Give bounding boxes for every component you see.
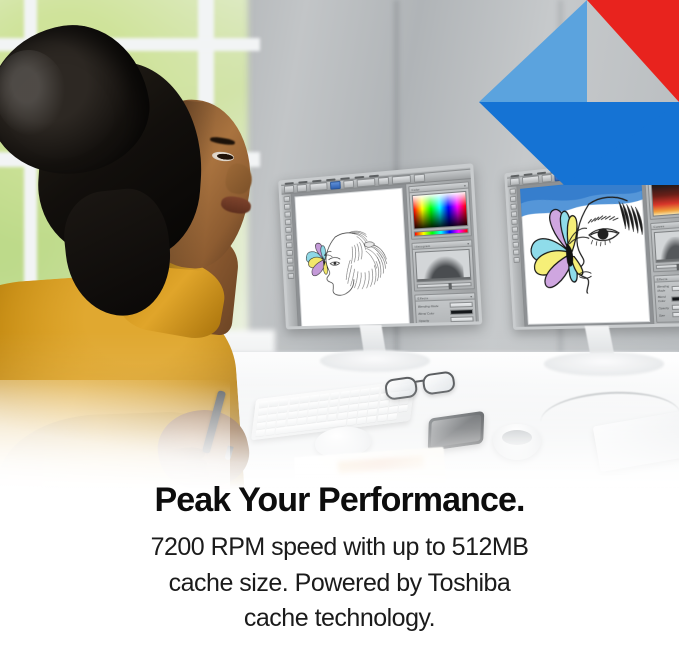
artwork-canvas[interactable] bbox=[520, 177, 650, 325]
panel-collapse-icon[interactable]: ▾ bbox=[467, 240, 469, 246]
histogram-graph bbox=[415, 249, 471, 282]
property-field[interactable] bbox=[450, 302, 473, 308]
subcopy-line-3: cache technology. bbox=[36, 601, 643, 637]
property-label: Size bbox=[659, 313, 671, 317]
property-field[interactable] bbox=[672, 311, 679, 317]
panel-collapse-icon[interactable]: ▾ bbox=[464, 182, 466, 188]
property-row[interactable]: Blending Mode bbox=[418, 302, 473, 309]
property-color-swatch[interactable] bbox=[450, 309, 473, 315]
property-label: Opacity bbox=[419, 318, 449, 323]
property-row[interactable]: Blend Color bbox=[658, 294, 679, 304]
property-label: Blend Color bbox=[658, 295, 670, 304]
histogram-panel[interactable]: Histogram ▾ bbox=[411, 239, 475, 291]
color-picker-panel-title: Color bbox=[411, 186, 420, 193]
subcopy-line-1: 7200 RPM speed with up to 512MB bbox=[36, 530, 643, 566]
subcopy: 7200 RPM speed with up to 512MB cache si… bbox=[36, 530, 643, 637]
secondary-monitor-base bbox=[544, 352, 664, 376]
property-field[interactable] bbox=[671, 285, 679, 291]
subcopy-line-2: cache size. Powered by Toshiba bbox=[36, 566, 643, 602]
properties-panel[interactable]: Effects ▾ Blending Mode Blend bbox=[653, 273, 679, 322]
property-label: Blending Mode bbox=[418, 303, 448, 308]
hero-photo: Color ▾ Histogram bbox=[0, 0, 679, 500]
primary-monitor-base bbox=[320, 350, 430, 372]
gradient-panel[interactable]: Gradient ▾ bbox=[647, 171, 679, 220]
property-field[interactable] bbox=[450, 316, 473, 322]
advertisement-banner: Color ▾ Histogram bbox=[0, 0, 679, 658]
photo-editor-window: Gradient ▾ Curves ▾ bbox=[507, 156, 679, 327]
photo-editor-window: Color ▾ Histogram bbox=[281, 167, 479, 327]
hue-slider[interactable] bbox=[414, 228, 469, 237]
curves-slider[interactable] bbox=[656, 263, 679, 269]
person-subject bbox=[0, 22, 278, 482]
property-label: Blending Mode bbox=[657, 284, 670, 293]
property-row[interactable]: Blending Mode bbox=[657, 283, 679, 293]
artwork-canvas[interactable] bbox=[295, 188, 411, 330]
gradient-panel-title: Gradient bbox=[650, 174, 664, 182]
property-row[interactable]: Opacity bbox=[658, 304, 679, 310]
property-label: Blend Color bbox=[418, 310, 448, 315]
curves-graph bbox=[654, 230, 679, 263]
artwork-profile-sketch bbox=[295, 188, 411, 330]
curves-panel[interactable]: Curves ▾ bbox=[650, 220, 679, 273]
color-picker-panel[interactable]: Color ▾ bbox=[408, 181, 472, 240]
color-gradient-field[interactable] bbox=[412, 191, 468, 230]
eyeglass-lens-right bbox=[421, 370, 456, 395]
artwork-butterfly-closeup bbox=[520, 177, 648, 296]
property-row[interactable]: Blend Color bbox=[418, 309, 473, 316]
primary-monitor-screen: Color ▾ Histogram bbox=[278, 163, 482, 329]
levels-slider[interactable] bbox=[417, 282, 472, 288]
panel-stack[interactable]: Color ▾ Histogram bbox=[405, 179, 480, 329]
histogram-panel-title: Histogram bbox=[414, 242, 430, 249]
copy-block: Peak Your Performance. 7200 RPM speed wi… bbox=[0, 482, 679, 637]
property-row[interactable]: Size bbox=[659, 311, 679, 317]
headline: Peak Your Performance. bbox=[36, 482, 643, 518]
properties-panel-title: Effects bbox=[417, 295, 428, 302]
property-color-swatch[interactable] bbox=[671, 295, 679, 301]
eyeglass-lens-left bbox=[384, 376, 419, 401]
gradient-preview[interactable] bbox=[651, 180, 679, 216]
property-row[interactable]: Opacity bbox=[419, 316, 474, 323]
secondary-monitor-screen: Gradient ▾ Curves ▾ bbox=[504, 152, 679, 330]
property-label: Opacity bbox=[658, 305, 670, 309]
property-field[interactable] bbox=[672, 304, 679, 310]
properties-panel-title: Effects bbox=[656, 275, 667, 282]
panel-collapse-icon[interactable]: ▾ bbox=[470, 293, 472, 299]
properties-panel[interactable]: Effects ▾ Blending Mode Blend bbox=[414, 292, 477, 329]
curves-panel-title: Curves bbox=[653, 223, 664, 230]
